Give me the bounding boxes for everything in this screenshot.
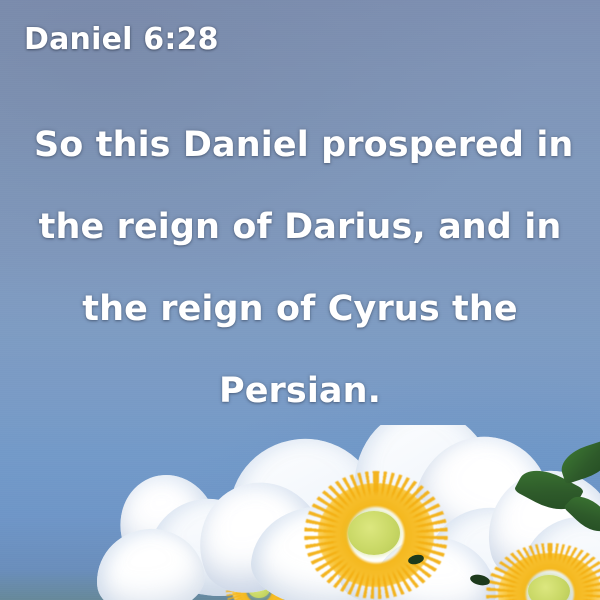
verse-text-block: So this Daniel prospered in the reign of… (0, 104, 600, 432)
verse-reference: Daniel 6:28 (24, 22, 219, 57)
verse-line: So this Daniel prospered in (34, 104, 566, 186)
verse-line: the reign of Darius, and in (34, 186, 566, 268)
leaf (557, 440, 600, 485)
flower-pistil (528, 575, 570, 600)
verse-image: Daniel 6:28 So this Daniel prospered in … (0, 0, 600, 600)
verse-line: Persian. (34, 350, 566, 432)
flower-cluster (0, 425, 600, 600)
verse-line: the reign of Cyrus the (34, 268, 566, 350)
flower-pistil (348, 511, 400, 555)
